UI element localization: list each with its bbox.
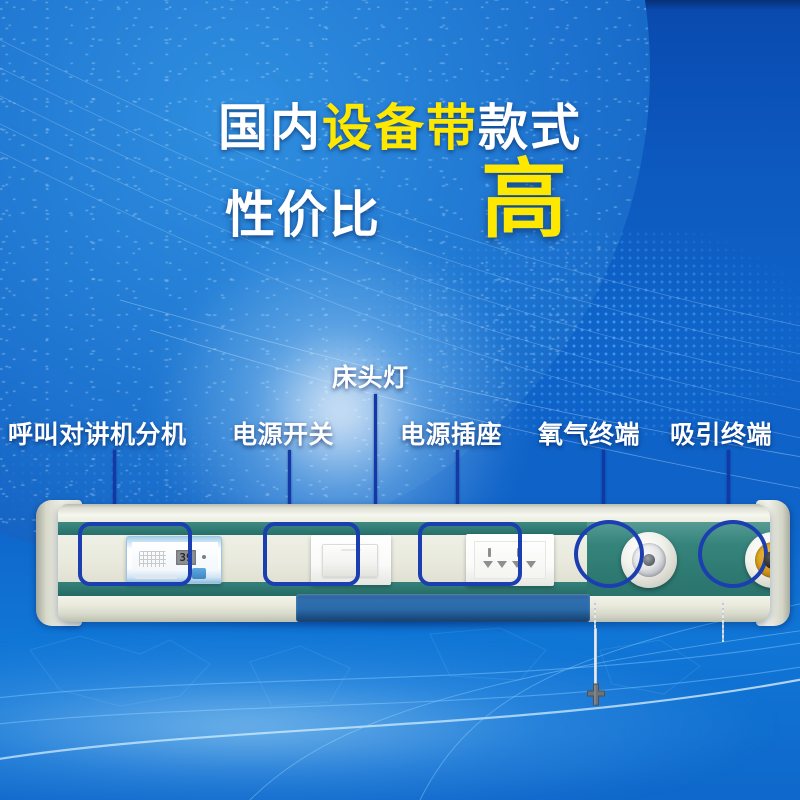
bed-lamp-diffuser-strip xyxy=(296,594,590,622)
pull-cord-upper xyxy=(594,600,596,628)
medical-bed-head-unit: 39 xyxy=(18,498,786,628)
pull-cord-line xyxy=(594,628,597,690)
socket-pin-right-a xyxy=(517,548,520,557)
socket-slot-4 xyxy=(526,561,536,568)
intercom-call-button[interactable] xyxy=(192,568,206,579)
intercom-display-value: 39 xyxy=(176,550,196,565)
socket-slot-2 xyxy=(497,561,507,568)
socket-slot-3 xyxy=(512,561,522,568)
callout-layer: 呼叫对讲机分机 电源开关 床头灯 电源插座 氧气终端 吸引终端 xyxy=(0,0,800,800)
callout-power-socket: 电源插座 xyxy=(400,415,502,451)
oxygen-terminal-outlet[interactable] xyxy=(621,532,677,588)
intercom-label-strip xyxy=(135,575,177,579)
nurse-call-intercom-unit[interactable]: 39 xyxy=(126,536,222,584)
suction-terminal-port-icon xyxy=(764,551,770,569)
power-switch-unit[interactable] xyxy=(311,535,391,585)
socket-faceplate xyxy=(474,541,546,579)
power-socket-unit[interactable] xyxy=(466,534,554,586)
panel-teal-gas-section xyxy=(587,522,770,596)
callout-bed-lamp: 床头灯 xyxy=(332,358,409,394)
callout-suction-terminal: 吸引终端 xyxy=(670,415,772,451)
suction-cord-tether xyxy=(722,600,724,642)
oxygen-terminal-port-icon xyxy=(643,554,655,566)
socket-pin-left-a xyxy=(488,548,491,557)
speaker-grille-icon xyxy=(139,551,166,567)
rocker-switch-icon[interactable] xyxy=(322,544,378,577)
intercom-faceplate: 39 xyxy=(132,542,218,571)
pull-cord-handle-icon[interactable] xyxy=(585,682,607,708)
callout-oxygen-terminal: 氧气终端 xyxy=(538,415,640,451)
callout-nurse-call-intercom: 呼叫对讲机分机 xyxy=(8,415,187,451)
intercom-indicator-led xyxy=(202,555,206,559)
callout-power-switch: 电源开关 xyxy=(232,415,334,451)
socket-slot-1 xyxy=(483,561,493,568)
